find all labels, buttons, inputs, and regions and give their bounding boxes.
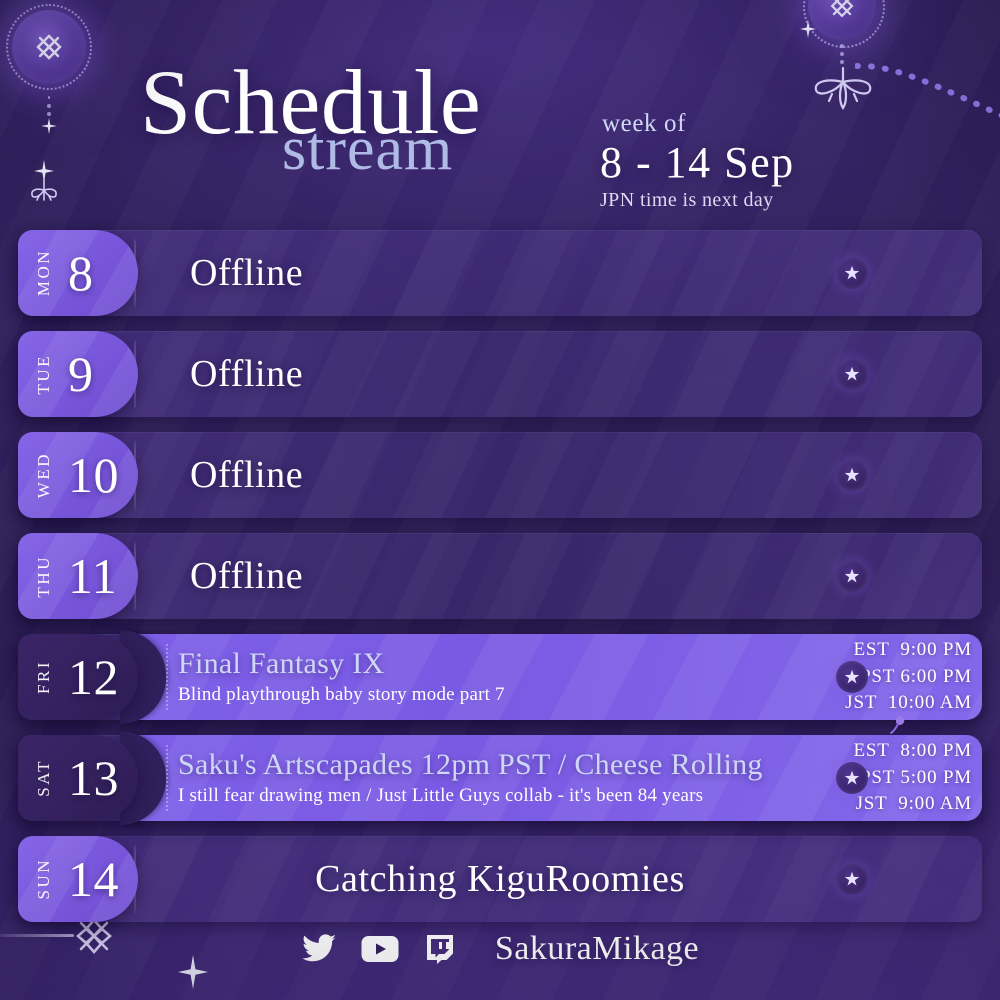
star-glyph	[845, 367, 860, 382]
day-of-week-label: WED	[34, 452, 54, 498]
schedule-row: OfflineWED10	[0, 432, 1000, 518]
day-of-week-label: SAT	[34, 759, 54, 797]
youtube-icon[interactable]	[361, 930, 399, 968]
day-number: 8	[68, 248, 94, 298]
row-seam	[166, 745, 168, 811]
schedule-poster: Schedule stream week of 8 - 14 Sep JPN t…	[0, 0, 1000, 1000]
day-of-week-label: TUE	[34, 354, 54, 395]
day-tag: WED10	[18, 432, 138, 518]
day-number: 11	[68, 551, 117, 601]
schedule-row: OfflineTHU11	[0, 533, 1000, 619]
time-line: JST 10:00 AM	[845, 690, 972, 717]
star-badge-icon	[836, 560, 868, 592]
time-line: JST 9:00 AM	[856, 791, 972, 818]
time-line: PST 6:00 PM	[860, 664, 972, 691]
date-range: 8 - 14 Sep	[600, 140, 860, 186]
day-tag: THU11	[18, 533, 138, 619]
schedule-row: OfflineMON8	[0, 230, 1000, 316]
day-number: 14	[68, 854, 119, 904]
header: Schedule stream week of 8 - 14 Sep JPN t…	[0, 0, 1000, 228]
star-glyph	[845, 569, 860, 584]
day-tag: MON8	[18, 230, 138, 316]
star-badge-icon	[836, 358, 868, 390]
time-line: PST 5:00 PM	[860, 765, 972, 792]
twitter-icon[interactable]	[301, 930, 339, 968]
footer-social-row: SakuraMikage	[0, 930, 1000, 968]
footer: SakuraMikage	[0, 918, 1000, 1000]
row-seam	[166, 644, 168, 710]
row-title: Offline	[190, 432, 303, 518]
stream-subtitle: I still fear drawing men / Just Little G…	[178, 785, 820, 808]
star-badge-icon	[836, 661, 868, 693]
title-group: Schedule stream	[140, 56, 570, 186]
day-of-week-label: MON	[34, 249, 54, 296]
stream-subtitle: Blind playthrough baby story mode part 7	[178, 684, 820, 707]
day-of-week-label: SUN	[34, 858, 54, 900]
star-badge-icon	[836, 863, 868, 895]
stream-title: Final Fantasy IX	[178, 647, 820, 681]
star-badge-icon	[836, 459, 868, 491]
day-of-week-label: FRI	[34, 660, 54, 694]
day-of-week-label: THU	[34, 555, 54, 597]
week-of-label: week of	[602, 110, 860, 138]
star-badge-icon	[836, 762, 868, 794]
date-block: week of 8 - 14 Sep JPN time is next day	[600, 110, 860, 212]
stream-title: Saku's Artscapades 12pm PST / Cheese Rol…	[178, 748, 820, 782]
day-number: 13	[68, 753, 119, 803]
star-glyph	[845, 872, 860, 887]
day-tag: TUE9	[18, 331, 138, 417]
timezone-note: JPN time is next day	[600, 189, 860, 212]
star-glyph	[845, 468, 860, 483]
star-glyph	[845, 266, 860, 281]
twitch-icon[interactable]	[421, 930, 459, 968]
day-tag: FRI12	[18, 634, 138, 720]
schedule-row: Catching KiguRoomiesSUN14	[0, 836, 1000, 922]
day-number: 12	[68, 652, 119, 702]
channel-handle: SakuraMikage	[495, 930, 699, 968]
star-glyph	[845, 670, 860, 685]
schedule-row: OfflineTUE9	[0, 331, 1000, 417]
day-tag: SAT13	[18, 735, 138, 821]
time-line: EST 9:00 PM	[853, 637, 972, 664]
day-number: 9	[68, 349, 94, 399]
stream-times: EST 8:00 PMPST 5:00 PMJST 9:00 AM	[853, 735, 972, 821]
stream-info: Saku's Artscapades 12pm PST / Cheese Rol…	[178, 735, 820, 821]
row-title: Offline	[190, 533, 303, 619]
time-line: EST 8:00 PM	[853, 738, 972, 765]
page-subtitle: stream	[282, 118, 453, 180]
schedule-row: Saku's Artscapades 12pm PST / Cheese Rol…	[0, 735, 1000, 821]
star-badge-icon	[836, 257, 868, 289]
stream-info: Final Fantasy IXBlind playthrough baby s…	[178, 634, 820, 720]
day-tag: SUN14	[18, 836, 138, 922]
row-title: Offline	[190, 331, 303, 417]
row-title: Offline	[190, 230, 303, 316]
day-number: 10	[68, 450, 119, 500]
star-glyph	[845, 771, 860, 786]
schedule-row: Final Fantasy IXBlind playthrough baby s…	[0, 634, 1000, 720]
schedule-list: OfflineMON8OfflineTUE9OfflineWED10Offlin…	[0, 230, 1000, 937]
